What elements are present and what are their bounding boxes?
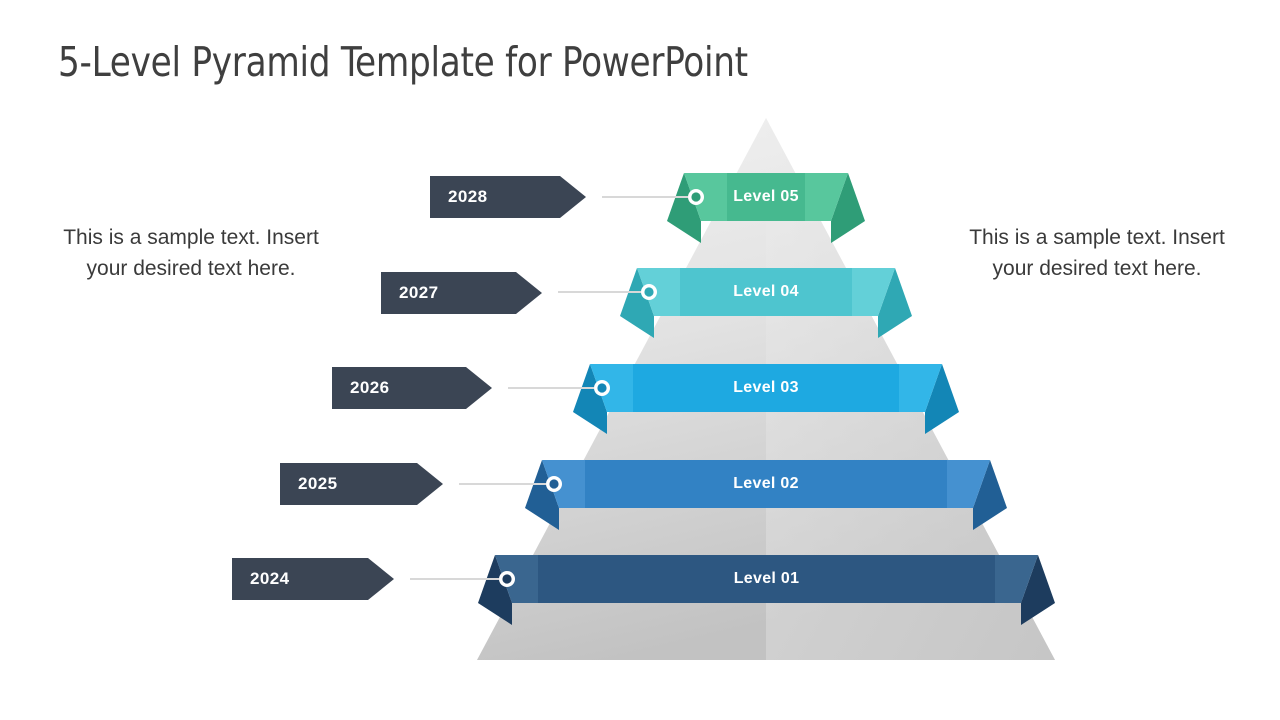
level-label: Level 05 <box>666 188 866 206</box>
year-label: 2025 <box>298 474 337 494</box>
slide-canvas: 5-Level Pyramid Template for PowerPoint … <box>0 0 1280 720</box>
level-label: Level 01 <box>667 570 867 588</box>
level-label: Level 03 <box>666 379 866 397</box>
diagram-text-overlay: 2028Level 052027Level 042026Level 032025… <box>0 0 1280 720</box>
level-label: Level 02 <box>666 475 866 493</box>
year-label: 2026 <box>350 378 389 398</box>
year-label: 2024 <box>250 569 289 589</box>
year-label: 2027 <box>399 283 438 303</box>
year-label: 2028 <box>448 187 487 207</box>
level-label: Level 04 <box>666 283 866 301</box>
